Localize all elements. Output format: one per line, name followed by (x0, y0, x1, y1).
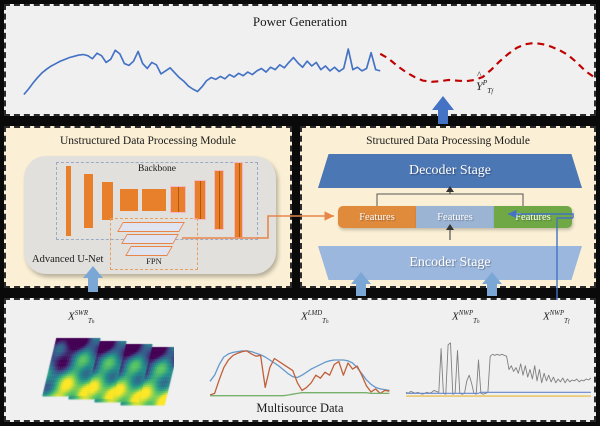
swr-heatmap-stack (34, 332, 174, 408)
backbone-bar (142, 189, 166, 211)
structured-data-processing-module: Structured Data Processing Module Decode… (300, 126, 596, 288)
backbone-bar (66, 166, 71, 236)
fpn-sheet (121, 234, 179, 244)
power-generation-chart (6, 6, 594, 114)
structured-internal-connectors (302, 128, 598, 290)
lmd-input-label: XLMDTh (301, 310, 329, 325)
swr-input-label: XSWRTh (68, 310, 95, 325)
multisource-data-panel: Multisource Data XSWRTh XLMDTh XNWPTh XN… (4, 298, 596, 422)
backbone-bar-split (219, 171, 220, 229)
lmd-multiline-chart (206, 332, 396, 404)
fpn-sheet (117, 222, 185, 232)
backbone-label: Backbone (56, 164, 258, 174)
backbone-bar (120, 189, 138, 211)
fpn-sheet (125, 246, 173, 256)
nwp-line-chart (404, 332, 592, 404)
advanced-unet-card: Backbone FPN Advanced U-Net (24, 156, 276, 274)
backbone-bar (102, 182, 113, 220)
power-generation-panel: Power Generation YPTf (4, 4, 596, 116)
backbone-bar-split (239, 163, 240, 237)
yhat-sub: Tf (487, 86, 493, 95)
backbone-bar (84, 174, 93, 228)
unstructured-data-processing-module: Unstructured Data Processing Module Back… (4, 126, 292, 288)
unstructured-module-title: Unstructured Data Processing Module (6, 135, 290, 147)
advanced-unet-label: Advanced U-Net (32, 254, 103, 265)
forecast-output-label: YPTf (476, 78, 493, 95)
backbone-bar-split (200, 181, 201, 219)
backbone-bar-split (178, 187, 179, 212)
fpn-label: FPN (110, 256, 198, 266)
nwp-th-input-label: XNWPTh (452, 310, 480, 325)
nwp-tf-input-label: XNWPTf (543, 310, 569, 325)
